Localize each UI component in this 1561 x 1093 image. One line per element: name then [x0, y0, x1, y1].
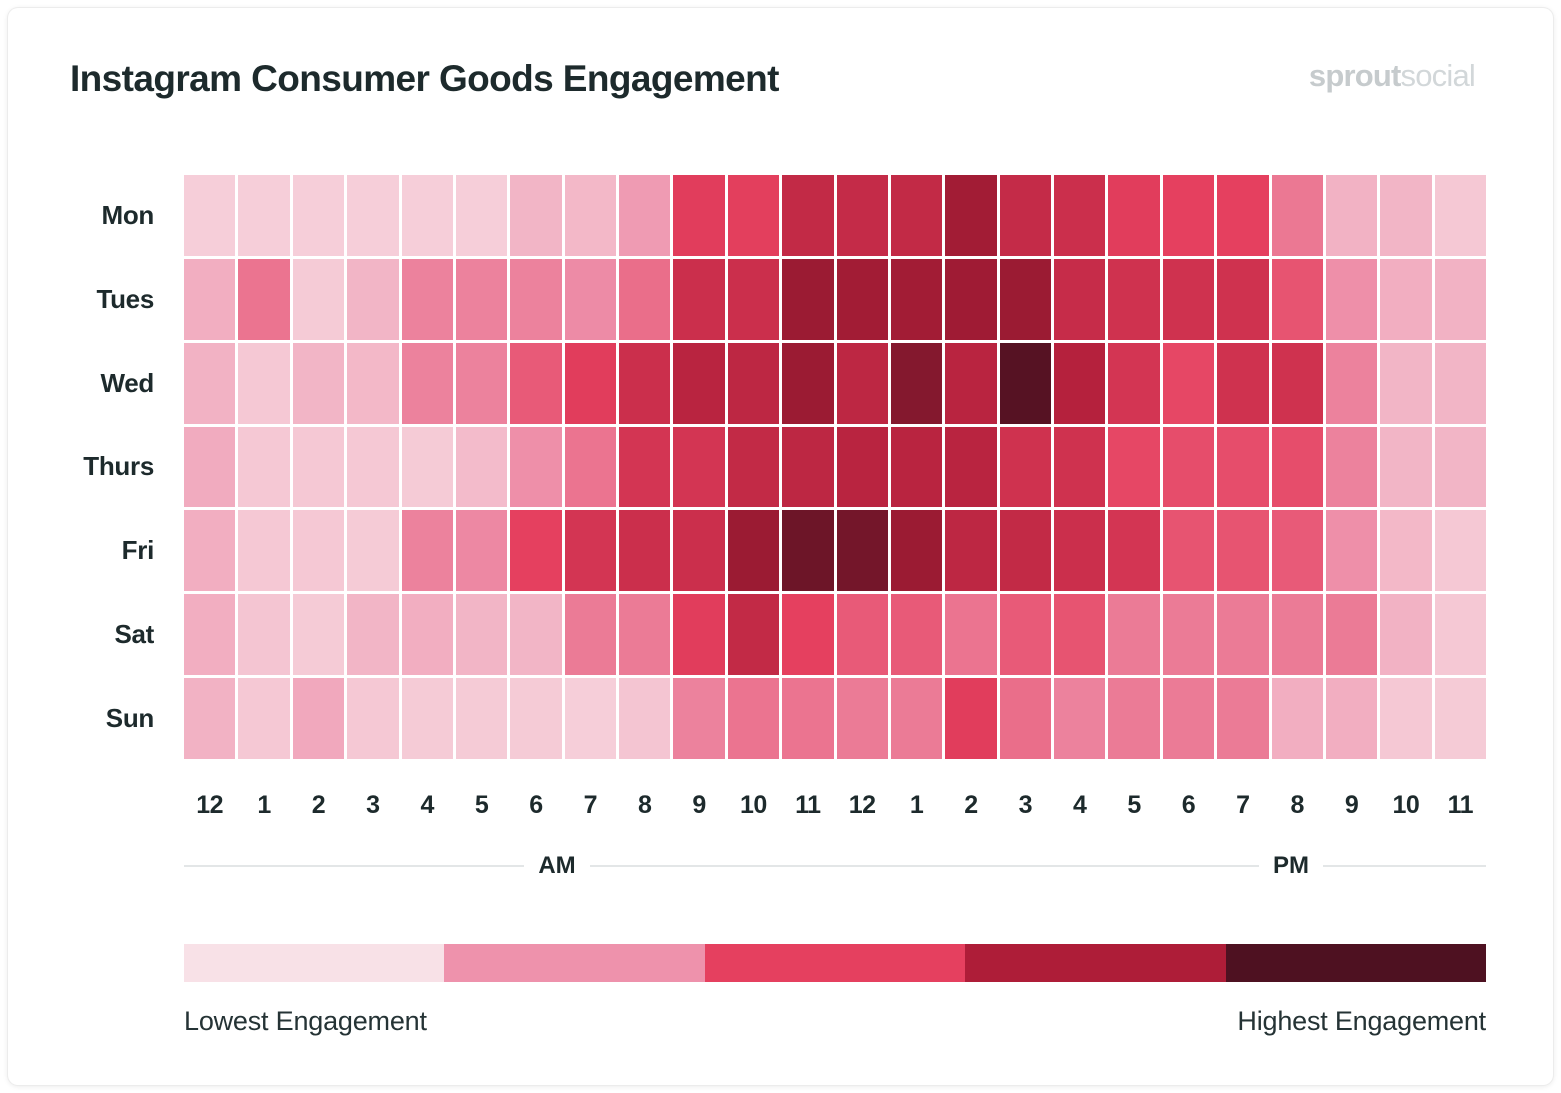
heatmap-cell[interactable] [619, 678, 670, 759]
heatmap-cell[interactable] [1217, 594, 1268, 675]
heatmap-cell[interactable] [1108, 594, 1159, 675]
heatmap-cell[interactable] [402, 510, 453, 591]
heatmap-cell[interactable] [782, 678, 833, 759]
hour-label-20: 8 [1272, 791, 1323, 820]
heatmap-cell[interactable] [293, 343, 344, 424]
heatmap-cell[interactable] [1163, 427, 1214, 508]
hour-label-16: 4 [1054, 791, 1105, 820]
heatmap-cell[interactable] [1272, 427, 1323, 508]
day-label-fri: Fri [8, 510, 168, 591]
heatmap-cell[interactable] [456, 175, 507, 256]
heatmap-cell[interactable] [1435, 510, 1486, 591]
heatmap-cell[interactable] [565, 175, 616, 256]
heatmap-cell[interactable] [184, 678, 235, 759]
heatmap-cell[interactable] [1272, 594, 1323, 675]
legend-low-label: Lowest Engagement [184, 1006, 427, 1037]
heatmap-grid [184, 175, 1486, 759]
heatmap-cell[interactable] [837, 343, 888, 424]
heatmap-cell[interactable] [238, 510, 289, 591]
heatmap-cell[interactable] [891, 594, 942, 675]
heatmap-cell[interactable] [1108, 259, 1159, 340]
heatmap-cell[interactable] [238, 175, 289, 256]
heatmap-cell[interactable] [1326, 678, 1377, 759]
heatmap-cell[interactable] [1000, 678, 1051, 759]
day-label-wed: Wed [8, 343, 168, 424]
heatmap-cell[interactable] [402, 259, 453, 340]
heatmap-cell[interactable] [402, 678, 453, 759]
heatmap-cell[interactable] [1108, 510, 1159, 591]
hour-label-0: 12 [184, 791, 235, 820]
hour-axis: 121234567891011121234567891011 [184, 791, 1486, 820]
heatmap-cell[interactable] [1435, 175, 1486, 256]
heatmap-cell[interactable] [402, 594, 453, 675]
heatmap-cell[interactable] [565, 343, 616, 424]
heatmap-cell[interactable] [184, 259, 235, 340]
heatmap-cell[interactable] [891, 427, 942, 508]
hour-label-9: 9 [673, 791, 724, 820]
heatmap-cell[interactable] [782, 259, 833, 340]
heatmap-cell[interactable] [510, 259, 561, 340]
heatmap-cell[interactable] [837, 510, 888, 591]
hour-label-10: 10 [728, 791, 779, 820]
heatmap-cell[interactable] [1217, 427, 1268, 508]
am-rule-left [184, 865, 524, 867]
heatmap-cell[interactable] [891, 678, 942, 759]
hour-label-17: 5 [1108, 791, 1159, 820]
heatmap-cell[interactable] [728, 510, 779, 591]
heatmap-cell[interactable] [619, 427, 670, 508]
legend-color-bar [184, 944, 1486, 982]
heatmap-cell[interactable] [1272, 175, 1323, 256]
heatmap-cell[interactable] [673, 175, 724, 256]
heatmap-cell[interactable] [837, 594, 888, 675]
heatmap-cell[interactable] [347, 175, 398, 256]
heatmap-cell[interactable] [728, 678, 779, 759]
heatmap-cell[interactable] [1000, 510, 1051, 591]
hour-label-11: 11 [782, 791, 833, 820]
sproutsocial-logo: sproutsocial [1309, 58, 1475, 94]
heatmap-cell[interactable] [184, 510, 235, 591]
heatmap-cell[interactable] [1380, 259, 1431, 340]
heatmap-cell[interactable] [837, 259, 888, 340]
heatmap-cell[interactable] [891, 175, 942, 256]
heatmap-cell[interactable] [945, 678, 996, 759]
heatmap-cell[interactable] [782, 343, 833, 424]
heatmap-cell[interactable] [1380, 427, 1431, 508]
heatmap-cell[interactable] [510, 175, 561, 256]
day-label-thurs: Thurs [8, 427, 168, 508]
heatmap-cell[interactable] [1000, 259, 1051, 340]
heatmap-cell[interactable] [1000, 343, 1051, 424]
heatmap-cell[interactable] [673, 259, 724, 340]
heatmap-cell[interactable] [565, 678, 616, 759]
heatmap-cell[interactable] [565, 427, 616, 508]
heatmap-cell[interactable] [837, 427, 888, 508]
heatmap-cell[interactable] [456, 427, 507, 508]
heatmap-cell[interactable] [347, 594, 398, 675]
heatmap-cell[interactable] [945, 175, 996, 256]
heatmap-cell[interactable] [1108, 678, 1159, 759]
hour-label-3: 3 [347, 791, 398, 820]
heatmap-cell[interactable] [238, 594, 289, 675]
heatmap-cell[interactable] [891, 259, 942, 340]
heatmap-cell[interactable] [402, 175, 453, 256]
day-label-sun: Sun [8, 678, 168, 759]
heatmap-cell[interactable] [945, 427, 996, 508]
heatmap-cell[interactable] [1326, 510, 1377, 591]
heatmap-cell[interactable] [1108, 175, 1159, 256]
heatmap-cell[interactable] [510, 510, 561, 591]
heatmap-cell[interactable] [184, 343, 235, 424]
day-label-mon: Mon [8, 175, 168, 256]
heatmap-cell[interactable] [1163, 175, 1214, 256]
hour-label-13: 1 [891, 791, 942, 820]
ampm-band: AM PM [184, 848, 1486, 884]
heatmap-cell[interactable] [1054, 594, 1105, 675]
heatmap-cell[interactable] [1054, 259, 1105, 340]
heatmap-cell[interactable] [782, 510, 833, 591]
heatmap-cell[interactable] [510, 343, 561, 424]
pm-label: PM [1273, 852, 1309, 880]
am-label: AM [538, 852, 575, 880]
heatmap-cell[interactable] [1054, 175, 1105, 256]
heatmap-cell[interactable] [1108, 343, 1159, 424]
heatmap-cell[interactable] [1272, 343, 1323, 424]
pm-rule-right [1323, 865, 1486, 867]
heatmap-cell[interactable] [565, 259, 616, 340]
day-axis: MonTuesWedThursFriSatSun [8, 175, 168, 759]
heatmap-cell[interactable] [945, 259, 996, 340]
hour-label-19: 7 [1217, 791, 1268, 820]
heatmap-cell[interactable] [1326, 175, 1377, 256]
heatmap-cell[interactable] [1435, 594, 1486, 675]
heatmap-cell[interactable] [1326, 259, 1377, 340]
heatmap-cell[interactable] [347, 259, 398, 340]
heatmap-cell[interactable] [402, 427, 453, 508]
heatmap-cell[interactable] [1435, 343, 1486, 424]
heatmap-plot [184, 175, 1486, 759]
heatmap-cell[interactable] [1108, 427, 1159, 508]
heatmap-cell[interactable] [782, 175, 833, 256]
heatmap-cell[interactable] [1163, 510, 1214, 591]
heatmap-cell[interactable] [728, 259, 779, 340]
heatmap-cell[interactable] [1217, 510, 1268, 591]
heatmap-cell[interactable] [510, 678, 561, 759]
heatmap-cell[interactable] [728, 343, 779, 424]
legend-high-label: Highest Engagement [1237, 1006, 1486, 1037]
heatmap-cell[interactable] [565, 594, 616, 675]
hour-label-8: 8 [619, 791, 670, 820]
heatmap-cell[interactable] [238, 427, 289, 508]
heatmap-cell[interactable] [945, 594, 996, 675]
hour-label-18: 6 [1163, 791, 1214, 820]
hour-label-21: 9 [1326, 791, 1377, 820]
hour-label-6: 6 [510, 791, 561, 820]
heatmap-cell[interactable] [293, 175, 344, 256]
heatmap-cell[interactable] [673, 594, 724, 675]
hour-label-2: 2 [293, 791, 344, 820]
heatmap-cell[interactable] [238, 259, 289, 340]
heatmap-cell[interactable] [293, 427, 344, 508]
heatmap-cell[interactable] [456, 510, 507, 591]
heatmap-cell[interactable] [456, 259, 507, 340]
heatmap-cell[interactable] [945, 510, 996, 591]
heatmap-cell[interactable] [1435, 259, 1486, 340]
heatmap-cell[interactable] [510, 594, 561, 675]
pm-rule-left [835, 865, 1259, 867]
heatmap-cell[interactable] [293, 510, 344, 591]
heatmap-cell[interactable] [1163, 343, 1214, 424]
heatmap-cell[interactable] [1272, 259, 1323, 340]
heatmap-cell[interactable] [565, 510, 616, 591]
logo-sprout-text: sprout [1309, 58, 1401, 93]
heatmap-cell[interactable] [1163, 594, 1214, 675]
heatmap-cell[interactable] [1272, 510, 1323, 591]
heatmap-cell[interactable] [891, 343, 942, 424]
heatmap-cell[interactable] [1326, 343, 1377, 424]
legend-segment-1 [444, 944, 704, 982]
legend-segment-0 [184, 944, 444, 982]
heatmap-cell[interactable] [1326, 427, 1377, 508]
hour-label-22: 10 [1380, 791, 1431, 820]
legend-segment-2 [705, 944, 965, 982]
heatmap-cell[interactable] [619, 175, 670, 256]
heatmap-cell[interactable] [782, 594, 833, 675]
hour-label-23: 11 [1435, 791, 1486, 820]
day-label-tues: Tues [8, 259, 168, 340]
heatmap-cell[interactable] [837, 678, 888, 759]
heatmap-cell[interactable] [1217, 678, 1268, 759]
heatmap-cell[interactable] [293, 678, 344, 759]
hour-label-15: 3 [1000, 791, 1051, 820]
heatmap-cell[interactable] [238, 678, 289, 759]
heatmap-cell[interactable] [402, 343, 453, 424]
am-rule-right [590, 865, 835, 867]
heatmap-cell[interactable] [619, 594, 670, 675]
page-title: Instagram Consumer Goods Engagement [70, 58, 779, 100]
heatmap-cell[interactable] [456, 594, 507, 675]
heatmap-cell[interactable] [728, 175, 779, 256]
heatmap-cell[interactable] [184, 427, 235, 508]
heatmap-cell[interactable] [673, 510, 724, 591]
hour-label-5: 5 [456, 791, 507, 820]
heatmap-cell[interactable] [728, 427, 779, 508]
heatmap-cell[interactable] [782, 427, 833, 508]
heatmap-cell[interactable] [293, 259, 344, 340]
heatmap-cell[interactable] [456, 343, 507, 424]
heatmap-cell[interactable] [945, 343, 996, 424]
heatmap-cell[interactable] [673, 678, 724, 759]
heatmap-cell[interactable] [1054, 427, 1105, 508]
hour-label-14: 2 [945, 791, 996, 820]
legend-labels: Lowest Engagement Highest Engagement [184, 1006, 1486, 1037]
heatmap-cell[interactable] [1000, 427, 1051, 508]
hour-label-4: 4 [402, 791, 453, 820]
screenshot-root: Instagram Consumer Goods Engagement spro… [0, 0, 1561, 1093]
heatmap-cell[interactable] [184, 175, 235, 256]
heatmap-cell[interactable] [293, 594, 344, 675]
heatmap-cell[interactable] [347, 343, 398, 424]
heatmap-cell[interactable] [837, 175, 888, 256]
heatmap-cell[interactable] [1217, 175, 1268, 256]
heatmap-cell[interactable] [619, 343, 670, 424]
heatmap-cell[interactable] [347, 510, 398, 591]
heatmap-cell[interactable] [1435, 427, 1486, 508]
heatmap-cell[interactable] [510, 427, 561, 508]
heatmap-cell[interactable] [619, 510, 670, 591]
heatmap-cell[interactable] [1326, 594, 1377, 675]
heatmap-cell[interactable] [1217, 343, 1268, 424]
heatmap-cell[interactable] [1054, 510, 1105, 591]
heatmap-cell[interactable] [1435, 678, 1486, 759]
heatmap-cell[interactable] [1054, 343, 1105, 424]
heatmap-cell[interactable] [1380, 343, 1431, 424]
heatmap-cell[interactable] [347, 427, 398, 508]
heatmap-cell[interactable] [728, 594, 779, 675]
heatmap-cell[interactable] [673, 427, 724, 508]
chart-card: Instagram Consumer Goods Engagement spro… [8, 8, 1553, 1085]
heatmap-cell[interactable] [1163, 678, 1214, 759]
day-label-sat: Sat [8, 594, 168, 675]
heatmap-cell[interactable] [456, 678, 507, 759]
am-group: AM [184, 848, 835, 884]
heatmap-cell[interactable] [1380, 175, 1431, 256]
logo-social-text: social [1401, 58, 1475, 93]
heatmap-cell[interactable] [347, 678, 398, 759]
heatmap-cell[interactable] [238, 343, 289, 424]
heatmap-cell[interactable] [619, 259, 670, 340]
heatmap-cell[interactable] [1272, 678, 1323, 759]
hour-label-12: 12 [837, 791, 888, 820]
pm-group: PM [835, 848, 1486, 884]
hour-label-1: 1 [238, 791, 289, 820]
heatmap-cell[interactable] [891, 510, 942, 591]
heatmap-cell[interactable] [673, 343, 724, 424]
heatmap-cell[interactable] [1380, 594, 1431, 675]
heatmap-cell[interactable] [1380, 510, 1431, 591]
heatmap-cell[interactable] [1380, 678, 1431, 759]
heatmap-cell[interactable] [1000, 175, 1051, 256]
legend-segment-3 [965, 944, 1225, 982]
heatmap-cell[interactable] [1217, 259, 1268, 340]
heatmap-cell[interactable] [1163, 259, 1214, 340]
hour-label-7: 7 [565, 791, 616, 820]
heatmap-cell[interactable] [1054, 678, 1105, 759]
heatmap-cell[interactable] [184, 594, 235, 675]
legend-segment-4 [1226, 944, 1486, 982]
heatmap-cell[interactable] [1000, 594, 1051, 675]
